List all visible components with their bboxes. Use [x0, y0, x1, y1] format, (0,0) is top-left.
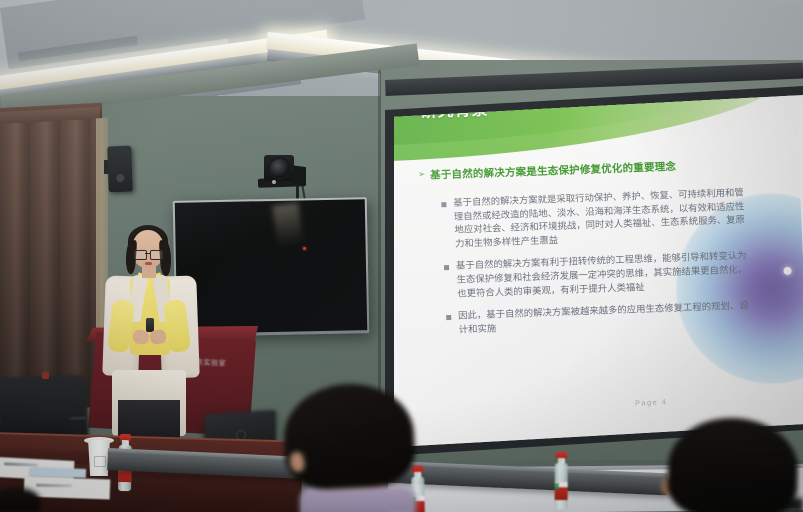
camera-lens-icon	[268, 157, 291, 180]
bottle-label-accent	[555, 483, 559, 490]
curtain	[0, 107, 100, 412]
wall-speaker-icon	[107, 146, 133, 193]
slide-bullet: 基于自然的解决方案有利于扭转传统的工程思维，能够引导和转变认为生态保护修复和社会…	[444, 250, 756, 302]
cup-logo	[94, 456, 106, 467]
camera-led	[272, 180, 276, 184]
slide-heading-marker-icon: ➢	[418, 169, 426, 180]
chair-accent	[42, 372, 49, 379]
attendee-left-edge	[0, 488, 40, 512]
attendee-shirt	[300, 486, 416, 512]
presenter-glasses-icon	[134, 250, 163, 258]
display-power-led	[303, 247, 306, 250]
projection-screen[interactable]: NATURE 研究背景 ➢ 基于自然的解决方案是生态保护修复优化的重要理念 基于…	[394, 95, 803, 447]
pen-icon	[36, 484, 72, 488]
conference-room-photo: NATURE 研究背景 ➢ 基于自然的解决方案是生态保护修复优化的重要理念 基于…	[0, 0, 803, 512]
slide-bullet: 因此，基于自然的解决方案被越来越多的应用生态修复工程的规划、设计和实施	[446, 299, 757, 337]
slide-page-footer: Page 4	[635, 397, 668, 407]
wall-display-screen[interactable]	[175, 199, 367, 334]
slide-bullet: 基于自然的解决方案就是采取行动保护、养护、恢复、可持续利用和管理自然或经改造的陆…	[441, 186, 753, 251]
presenter-glasses-bridge	[145, 253, 151, 254]
presenter-mouth	[145, 262, 152, 265]
presentation-slide: NATURE 研究背景 ➢ 基于自然的解决方案是生态保护修复优化的重要理念 基于…	[394, 95, 803, 447]
slide-heading: 基于自然的解决方案是生态保护修复优化的重要理念	[430, 159, 677, 183]
slide-bullet-list: 基于自然的解决方案就是采取行动保护、养护、恢复、可持续利用和管理自然或经改造的陆…	[441, 186, 757, 346]
